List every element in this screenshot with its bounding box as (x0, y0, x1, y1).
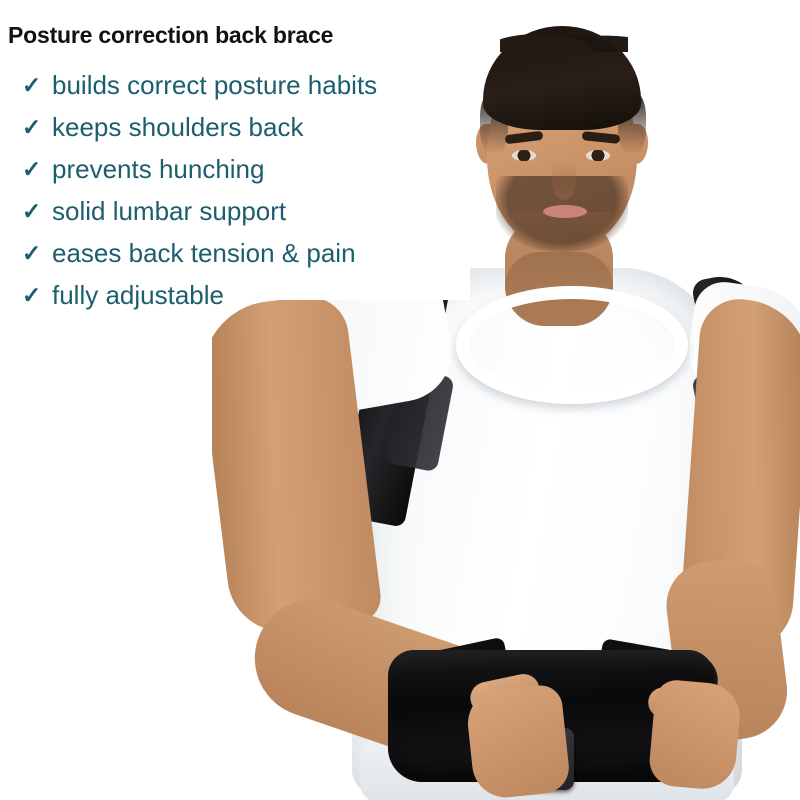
check-icon: ✓ (22, 106, 41, 148)
check-icon: ✓ (22, 232, 41, 274)
check-icon: ✓ (22, 148, 41, 190)
check-icon: ✓ (22, 190, 41, 232)
left-eye (512, 150, 536, 161)
hair-spikes (500, 22, 628, 52)
list-item: ✓ solid lumbar support (0, 190, 470, 232)
check-icon: ✓ (22, 64, 41, 106)
nose (552, 160, 576, 200)
page-title: Posture correction back brace (8, 22, 333, 49)
list-item: ✓ fully adjustable (0, 274, 470, 316)
right-eye (586, 150, 610, 161)
benefit-list: ✓ builds correct posture habits ✓ keeps … (0, 64, 470, 316)
list-item-label: keeps shoulders back (52, 106, 303, 148)
check-icon: ✓ (22, 274, 41, 316)
list-item: ✓ keeps shoulders back (0, 106, 470, 148)
list-item: ✓ prevents hunching (0, 148, 470, 190)
list-item-label: prevents hunching (52, 148, 264, 190)
list-item-label: eases back tension & pain (52, 232, 356, 274)
list-item-label: solid lumbar support (52, 190, 286, 232)
marketing-copy: Posture correction back brace ✓ builds c… (0, 0, 470, 330)
list-item-label: builds correct posture habits (52, 64, 377, 106)
list-item-label: fully adjustable (52, 274, 224, 316)
list-item: ✓ eases back tension & pain (0, 232, 470, 274)
list-item: ✓ builds correct posture habits (0, 64, 470, 106)
product-feature-image: Posture correction back brace ✓ builds c… (0, 0, 800, 800)
shirt-collar (456, 286, 688, 404)
left-hand (465, 683, 572, 800)
right-hand (648, 678, 743, 791)
mouth (543, 205, 587, 218)
